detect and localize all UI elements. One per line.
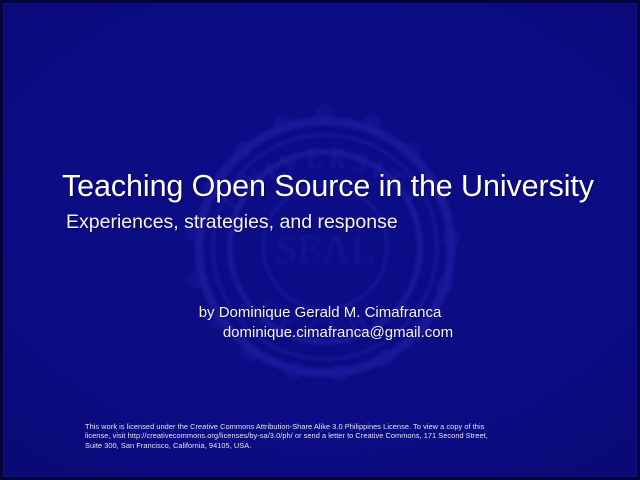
author-name: by Dominique Gerald M. Cimafranca [0, 303, 640, 323]
license-line: license, visit http://creativecommons.or… [85, 431, 575, 440]
author-block: by Dominique Gerald M. Cimafranca domini… [0, 303, 640, 343]
presentation-title-slide: UNIVERSITY OF CEBU SEAL Teaching Open So… [0, 0, 640, 480]
page-title: Teaching Open Source in the University [0, 167, 640, 205]
title-block: Teaching Open Source in the University E… [0, 167, 640, 235]
license-notice: This work is licensed under the Creative… [85, 422, 575, 450]
license-line: Suite 300, San Francisco, California, 94… [85, 441, 575, 450]
author-email: dominique.cimafranca@gmail.com [0, 323, 640, 343]
license-line: This work is licensed under the Creative… [85, 422, 575, 431]
slide-background [0, 0, 640, 480]
page-subtitle: Experiences, strategies, and response [0, 205, 640, 235]
